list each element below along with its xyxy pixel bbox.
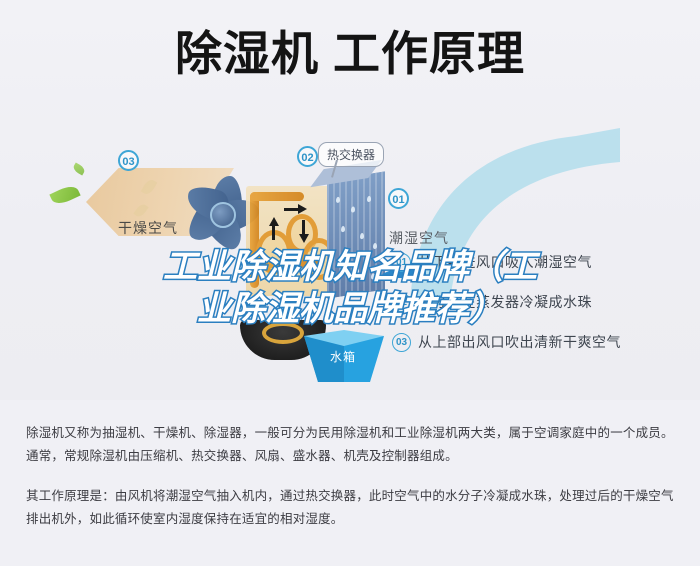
infographic-panel: 除湿机 工作原理 03 干燥空气 (0, 0, 700, 400)
compressor-coils-illustration (246, 186, 330, 296)
diagram-badge-03: 03 (118, 150, 139, 171)
caption-row-01: 01 从下部进风口吸入潮湿空气 (392, 252, 592, 272)
infographic-title: 除湿机 工作原理 (0, 26, 700, 82)
water-tank-label: 水箱 (330, 348, 356, 365)
paragraph-definition: 除湿机又称为抽湿机、干燥机、除湿器，一般可分为民用除湿机和工业除湿机两大类，属于… (0, 400, 700, 468)
caption-badge-01: 01 (392, 253, 411, 272)
caption-text-03: 从上部出风口吹出清新干爽空气 (418, 332, 621, 352)
caption-text-01: 从下部进风口吸入潮湿空气 (418, 252, 592, 272)
paragraph-principle: 其工作原理是：由风机将潮湿空气抽入机内，通过热交换器，此时空气中的水分子冷凝成水… (0, 468, 700, 531)
article-body: 除湿机又称为抽湿机、干燥机、除湿器，一般可分为民用除湿机和工业除湿机两大类，属于… (0, 400, 700, 531)
caption-text-02: 水分子在蒸发器冷凝成水珠 (418, 292, 592, 312)
caption-row-03: 03 从上部出风口吹出清新干爽空气 (392, 332, 621, 352)
caption-badge-02: 02 (392, 293, 411, 312)
leaf-icon (72, 163, 86, 176)
dry-air-label: 干燥空气 (118, 218, 178, 238)
leaf-icon (49, 183, 80, 208)
humid-air-flow-arc (370, 128, 690, 308)
caption-row-02: 02 水分子在蒸发器冷凝成水珠 (392, 292, 592, 312)
caption-badge-03: 03 (392, 333, 411, 352)
diagram-badge-02: 02 (297, 146, 318, 167)
humid-air-label: 潮湿空气 (389, 228, 449, 248)
fan-hub (210, 202, 236, 228)
base-ring (262, 322, 304, 344)
diagram-badge-01: 01 (388, 188, 409, 209)
